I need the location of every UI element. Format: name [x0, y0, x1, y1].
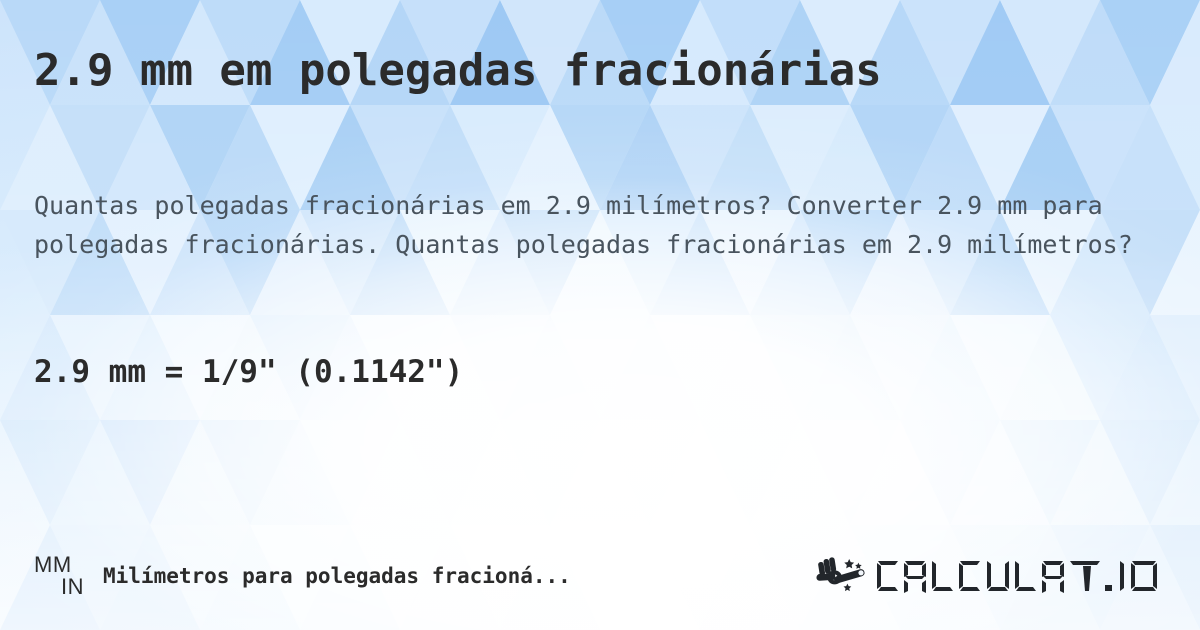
footer-bar: MM IN Milímetros para polegadas fracioná…: [0, 548, 1200, 604]
page-title: 2.9 mm em polegadas fracionárias: [34, 44, 882, 98]
conversion-result: 2.9 mm = 1/9" (0.1142"): [34, 352, 463, 392]
brand-logo[interactable]: [816, 553, 1166, 599]
hand-holding-magic-wand-icon: [816, 553, 870, 599]
content-area: 2.9 mm em polegadas fracionárias Quantas…: [0, 0, 1200, 630]
unit-badge-to-label: IN: [61, 576, 90, 598]
description-paragraph: Quantas polegadas fracionárias em 2.9 mi…: [34, 186, 1169, 264]
unit-badge-from-label: MM: [34, 554, 72, 576]
unit-badge-mm-in: MM IN: [34, 554, 90, 597]
calculatio-wordmark: [874, 555, 1166, 597]
page-root: 2.9 mm em polegadas fracionárias Quantas…: [0, 0, 1200, 630]
footer-converter-title: Milímetros para polegadas fracioná...: [103, 564, 571, 588]
